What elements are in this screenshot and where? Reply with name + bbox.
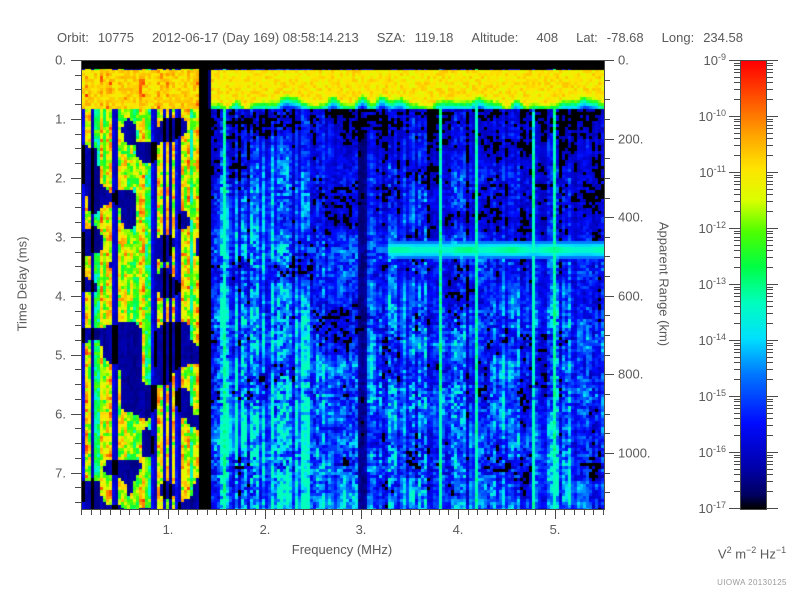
colorbar-tick-minor [734,63,741,64]
colorbar-tick-minor [734,461,741,462]
x-tick-major [555,509,556,519]
colorbar-tick-minor [734,379,741,380]
y-axis-right-tick-label: 400. [618,211,643,224]
x-tick-minor [303,509,304,515]
x-tick-minor [526,509,527,515]
x-tick-minor [429,509,430,515]
colorbar-tick-minor [766,63,773,64]
colorbar-tick-minor [734,237,741,238]
sza-label: SZA: [377,30,406,45]
colorbar-tick-minor [766,469,773,470]
colorbar-tick-major [766,172,778,173]
colorbar-tick-minor [734,257,741,258]
colorbar-tick-minor [766,481,773,482]
y-tick-right-minor [604,355,610,356]
x-tick-minor [187,509,188,515]
y-tick-minor [75,384,81,385]
x-tick-minor [226,509,227,515]
colorbar-tick-minor [734,464,741,465]
y-tick-minor [75,487,81,488]
y-tick-minor [75,75,81,76]
y-tick-major [71,178,81,179]
y-axis-right-tick-label: 0. [618,54,629,67]
header-metadata: Orbit:107752012-06-17 (Day 169) 08:58:14… [0,30,800,45]
colorbar-tick-minor [734,408,741,409]
colorbar-tick-minor [734,184,741,185]
colorbar-tick-minor [734,287,741,288]
x-tick-major [168,509,169,519]
colorbar-tick-minor [766,379,773,380]
y-tick-minor [75,369,81,370]
colorbar-tick-label: 10-16 [699,444,726,460]
colorbar-tick-minor [766,343,773,344]
colorbar-tick-minor [734,89,741,90]
colorbar-tick-minor [766,72,773,73]
x-tick-minor [564,509,565,515]
x-tick-minor [497,509,498,515]
colorbar-tick-minor [734,491,741,492]
colorbar-tick-minor [766,349,773,350]
y-tick-right-minor [604,178,610,179]
x-tick-minor [371,509,372,515]
colorbar-tick-minor [766,77,773,78]
y-tick-right-minor [604,335,610,336]
x-tick-minor [236,509,237,515]
colorbar-tick-minor [734,250,741,251]
colorbar-tick-minor [766,399,773,400]
colorbar-tick-minor [766,69,773,70]
colorbar-tick-minor [766,352,773,353]
colorbar-tick-minor [734,128,741,129]
y-tick-minor [75,325,81,326]
colorbar-tick-minor [766,345,773,346]
x-tick-minor [178,509,179,515]
y-tick-minor [75,399,81,400]
colorbar-tick-minor [766,177,773,178]
colorbar-tick-minor [766,119,773,120]
colorbar-tick-minor [734,125,741,126]
y-tick-right-major [604,139,614,140]
datetime-value: 2012-06-17 (Day 169) 08:58:14.213 [152,30,359,45]
y-tick-major [71,414,81,415]
colorbar-tick-minor [766,413,773,414]
x-axis-tick-label: 5. [550,522,561,537]
colorbar-tick-major [766,340,778,341]
y-tick-right-minor [604,256,610,257]
colorbar-tick-minor [766,425,773,426]
colorbar-tick-minor [734,175,741,176]
sza-value: 119.18 [415,30,454,45]
ionogram-figure: Orbit:107752012-06-17 (Day 169) 08:58:14… [0,0,800,600]
colorbar-tick-minor [766,175,773,176]
y-tick-major [71,473,81,474]
colorbar-tick-minor [734,155,741,156]
colorbar-tick-minor [734,194,741,195]
y-tick-minor [75,281,81,282]
x-tick-minor [284,509,285,515]
colorbar-tick-minor [734,306,741,307]
y-tick-minor [75,163,81,164]
y-tick-right-minor [604,237,610,238]
x-tick-minor [535,509,536,515]
colorbar-tick-minor [734,413,741,414]
x-tick-minor [410,509,411,515]
colorbar-tick-label: 10-17 [699,500,726,516]
colorbar-tick-minor [734,301,741,302]
colorbar-tick-minor [766,464,773,465]
colorbar-tick-minor [766,128,773,129]
colorbar-tick-minor [734,133,741,134]
colorbar-tick-minor [766,293,773,294]
colorbar-tick-major [766,60,778,61]
x-tick-minor [129,509,130,515]
y-axis-left-tick-label: 2. [55,172,66,185]
x-tick-minor [593,509,594,515]
colorbar-tick-label: 10-15 [699,388,726,404]
colorbar-tick-minor [766,287,773,288]
y-tick-minor [75,193,81,194]
colorbar-tick-minor [766,240,773,241]
y-tick-right-minor [604,158,610,159]
x-tick-minor [545,509,546,515]
colorbar-tick-minor [734,343,741,344]
colorbar-tick-label: 10-10 [699,108,726,124]
y-tick-right-minor [604,119,610,120]
x-tick-minor [584,509,585,515]
colorbar-tick-minor [734,474,741,475]
colorbar-tick-minor [734,72,741,73]
colorbar-tick-minor [766,138,773,139]
y-tick-right-major [604,453,614,454]
x-tick-minor [313,509,314,515]
x-tick-minor [439,509,440,515]
colorbar-tick-minor [766,296,773,297]
y-tick-right-minor [604,414,610,415]
x-axis-tick-label: 1. [163,522,174,537]
colorbar-tick-minor [734,289,741,290]
colorbar-tick-major [729,60,741,61]
colorbar-tick-minor [766,65,773,66]
colorbar-tick-minor [766,82,773,83]
colorbar-tick-minor [734,313,741,314]
colorbar-tick-minor [766,245,773,246]
long-label: Long: [662,30,695,45]
x-tick-minor [506,509,507,515]
y-axis-left-tick-label: 5. [55,349,66,362]
colorbar-tick-minor [734,455,741,456]
colorbar-tick-minor [766,301,773,302]
colorbar-tick-minor [734,145,741,146]
x-tick-minor [158,509,159,515]
y-axis-right-tick-label: 200. [618,133,643,146]
y-axis-left-tick-label: 7. [55,467,66,480]
colorbar-tick-minor [734,69,741,70]
y-tick-minor [75,340,81,341]
colorbar-tick-minor [766,405,773,406]
colorbar-tick-major [729,116,741,117]
y-tick-right-major [604,217,614,218]
y-axis-left-tick-label: 0. [55,54,66,67]
x-axis-tick-label: 3. [356,522,367,537]
y-tick-minor [75,428,81,429]
x-tick-minor [516,509,517,515]
y-tick-minor [75,134,81,135]
watermark-label: UIOWA 20130125 [717,578,787,587]
y-tick-minor [75,458,81,459]
x-tick-minor [477,509,478,515]
colorbar-gradient [741,61,766,509]
y-axis-right-tick-label: 1000. [618,447,651,460]
colorbar-tick-minor [766,491,773,492]
colorbar-tick-minor [734,99,741,100]
x-tick-minor [91,509,92,515]
colorbar-tick-minor [734,469,741,470]
colorbar-tick-minor [734,369,741,370]
y-axis-right-tick-label: 600. [618,290,643,303]
y-tick-right-major [604,60,614,61]
long-value: 234.58 [703,30,743,45]
colorbar-tick-major [766,116,778,117]
y-tick-minor [75,266,81,267]
colorbar-tick-minor [734,435,741,436]
colorbar-tick-minor [734,245,741,246]
colorbar-tick-minor [734,211,741,212]
colorbar-tick-minor [766,306,773,307]
colorbar-tick-major [729,284,741,285]
colorbar-tick-minor [734,267,741,268]
y-tick-right-minor [604,99,610,100]
y-tick-minor [75,252,81,253]
y-tick-right-minor [604,198,610,199]
colorbar-tick-minor [734,323,741,324]
lat-value: -78.68 [607,30,644,45]
x-tick-minor [197,509,198,515]
x-tick-minor [245,509,246,515]
x-tick-minor [149,509,150,515]
colorbar-tick-minor [766,250,773,251]
colorbar-tick-minor [734,345,741,346]
colorbar-tick-major [729,508,741,509]
colorbar-tick-minor [766,323,773,324]
colorbar-tick-minor [766,362,773,363]
colorbar-tick-major [766,452,778,453]
y-tick-major [71,60,81,61]
y-tick-right-major [604,374,614,375]
colorbar-tick-major [729,396,741,397]
colorbar-tick-minor [766,455,773,456]
colorbar-tick-minor [734,181,741,182]
colorbar-tick-minor [734,401,741,402]
colorbar-tick-minor [766,357,773,358]
colorbar-tick-minor [734,77,741,78]
colorbar-tick-minor [766,408,773,409]
colorbar-tick-minor [734,82,741,83]
colorbar-tick-minor [766,313,773,314]
colorbar-tick-minor [734,352,741,353]
spectrogram-plot-area [81,60,605,510]
y-tick-minor [75,89,81,90]
x-tick-minor [294,509,295,515]
x-tick-minor [448,509,449,515]
x-axis-title: Frequency (MHz) [292,542,392,557]
colorbar-tick-minor [766,194,773,195]
y-axis-left-tick-label: 4. [55,290,66,303]
y-tick-minor [75,443,81,444]
orbit-value: 10775 [98,30,134,45]
x-tick-minor [81,509,82,515]
colorbar-tick-minor [734,119,741,120]
altitude-value: 408 [536,30,558,45]
y-tick-right-minor [604,492,610,493]
x-tick-minor [487,509,488,515]
y-tick-major [71,296,81,297]
colorbar-tick-minor [766,184,773,185]
x-tick-minor [323,509,324,515]
x-tick-minor [216,509,217,515]
orbit-label: Orbit: [57,30,89,45]
colorbar-tick-minor [734,201,741,202]
colorbar-tick-label: 10-14 [699,332,726,348]
colorbar-tick-major [766,396,778,397]
lat-label: Lat: [576,30,598,45]
x-tick-minor [400,509,401,515]
colorbar-tick-major [766,284,778,285]
x-tick-minor [332,509,333,515]
colorbar-tick-minor [734,481,741,482]
colorbar-tick-minor [734,405,741,406]
y-axis-right-tick-label: 800. [618,368,643,381]
colorbar-tick-minor [766,289,773,290]
x-axis-tick-label: 4. [453,522,464,537]
y-axis-left-title: Time Delay (ms) [15,237,30,332]
x-tick-minor [120,509,121,515]
spectrogram-canvas [82,61,604,509]
colorbar-tick-minor [766,435,773,436]
y-axis-left-tick-label: 6. [55,408,66,421]
colorbar-tick-minor [734,296,741,297]
colorbar-units-label: V2 m−2 Hz−1 [718,545,786,561]
colorbar-tick-minor [766,233,773,234]
colorbar-tick-minor [766,418,773,419]
colorbar-tick-major [766,508,778,509]
colorbar-tick-minor [766,89,773,90]
y-tick-right-minor [604,394,610,395]
colorbar-tick-minor [734,399,741,400]
x-tick-minor [274,509,275,515]
x-tick-minor [603,509,604,515]
colorbar-tick-label: 10-13 [699,276,726,292]
colorbar-tick-minor [766,211,773,212]
y-tick-right-minor [604,276,610,277]
x-tick-minor [468,509,469,515]
colorbar-tick-minor [766,99,773,100]
x-tick-minor [207,509,208,515]
y-tick-right-major [604,296,614,297]
y-tick-major [71,355,81,356]
colorbar-tick-minor [734,189,741,190]
y-axis-left-tick-label: 3. [55,231,66,244]
y-tick-major [71,119,81,120]
colorbar-tick-minor [734,231,741,232]
colorbar-tick-label: 10-11 [699,164,726,180]
colorbar-tick-minor [734,65,741,66]
colorbar-tick-minor [766,461,773,462]
y-tick-right-minor [604,315,610,316]
colorbar-tick-major [729,340,741,341]
colorbar-tick-minor [766,133,773,134]
x-tick-minor [110,509,111,515]
colorbar-tick-major [729,452,741,453]
colorbar-tick-minor [734,121,741,122]
y-tick-major [71,237,81,238]
colorbar-tick-minor [734,418,741,419]
x-tick-major [265,509,266,519]
y-tick-right-minor [604,433,610,434]
y-tick-minor [75,104,81,105]
colorbar-tick-minor [766,257,773,258]
y-axis-left-tick-label: 1. [55,113,66,126]
x-tick-minor [352,509,353,515]
colorbar-tick-minor [766,237,773,238]
y-tick-right-minor [604,473,610,474]
x-tick-minor [390,509,391,515]
x-tick-minor [419,509,420,515]
colorbar-tick-minor [734,233,741,234]
y-tick-right-minor [604,80,610,81]
x-tick-minor [342,509,343,515]
colorbar-tick-minor [766,369,773,370]
altitude-label: Altitude: [471,30,518,45]
colorbar-tick-minor [766,267,773,268]
colorbar-tick-minor [766,201,773,202]
colorbar-tick-minor [766,231,773,232]
colorbar-tick-minor [734,293,741,294]
y-axis-right-title: Apparent Range (km) [657,222,672,346]
colorbar-tick-major [729,228,741,229]
x-tick-minor [381,509,382,515]
colorbar-tick-minor [766,155,773,156]
colorbar-tick-minor [734,138,741,139]
colorbar-tick-minor [766,189,773,190]
colorbar-tick-minor [766,474,773,475]
colorbar-tick-minor [734,362,741,363]
colorbar [740,60,767,510]
colorbar-tick-minor [734,425,741,426]
colorbar-tick-minor [734,357,741,358]
colorbar-tick-minor [766,145,773,146]
y-tick-minor [75,207,81,208]
y-tick-minor [75,311,81,312]
colorbar-tick-minor [734,177,741,178]
colorbar-tick-minor [766,457,773,458]
colorbar-tick-minor [766,181,773,182]
y-tick-minor [75,502,81,503]
y-tick-minor [75,148,81,149]
x-tick-major [361,509,362,519]
x-tick-minor [255,509,256,515]
colorbar-tick-minor [766,121,773,122]
colorbar-tick-label: 10-9 [704,52,726,68]
colorbar-tick-label: 10-12 [699,220,726,236]
colorbar-tick-minor [734,457,741,458]
x-tick-minor [139,509,140,515]
x-tick-major [458,509,459,519]
colorbar-tick-minor [766,401,773,402]
colorbar-tick-major [729,172,741,173]
x-axis-tick-label: 2. [260,522,271,537]
y-tick-minor [75,222,81,223]
colorbar-tick-minor [734,240,741,241]
